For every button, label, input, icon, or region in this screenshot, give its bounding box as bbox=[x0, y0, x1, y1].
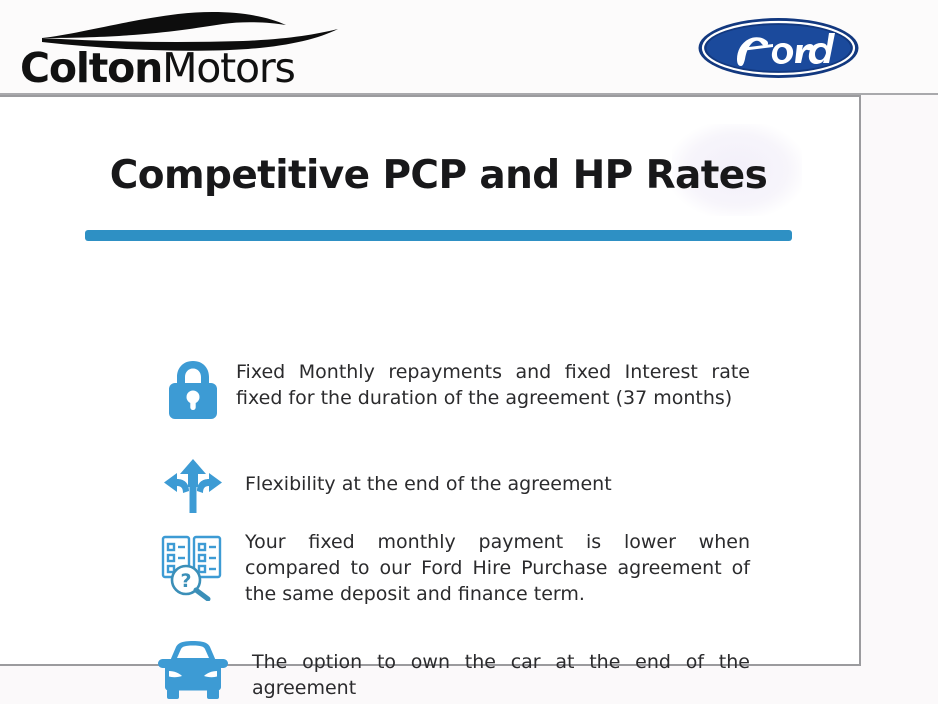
benefit-item: Flexibility at the end of the agreement bbox=[150, 457, 750, 515]
benefit-item: The option to own the car at the end of … bbox=[150, 635, 750, 701]
document-checklist-magnifier-icon: ? bbox=[150, 527, 236, 601]
slide-title: Competitive PCP and HP Rates bbox=[85, 150, 792, 201]
car-front-icon bbox=[150, 635, 236, 699]
slide-card: Competitive PCP and HP Rates Fixed Month… bbox=[0, 95, 861, 666]
header-band: ColtonMotors bbox=[0, 0, 938, 95]
dealer-logo[interactable]: ColtonMotors bbox=[18, 8, 348, 92]
three-way-arrows-icon bbox=[150, 457, 236, 515]
dealer-logo-word-motors: Motors bbox=[162, 44, 295, 92]
title-divider-bar bbox=[85, 230, 792, 241]
padlock-icon bbox=[150, 357, 236, 421]
dealer-logo-word-colton: Colton bbox=[20, 44, 162, 92]
benefit-text: Flexibility at the end of the agreement bbox=[236, 457, 750, 497]
benefit-text: Fixed Monthly repayments and fixed Inter… bbox=[236, 357, 750, 411]
benefit-item: Fixed Monthly repayments and fixed Inter… bbox=[150, 357, 750, 421]
svg-text:?: ? bbox=[180, 570, 191, 592]
benefit-item: ? Your fixed monthly payment is lower wh… bbox=[150, 527, 750, 607]
benefit-text: Your fixed monthly payment is lower when… bbox=[236, 527, 750, 607]
dealer-logo-wordmark: ColtonMotors bbox=[20, 44, 295, 92]
ford-oval-logo[interactable] bbox=[697, 17, 860, 79]
benefit-text: The option to own the car at the end of … bbox=[236, 635, 750, 701]
